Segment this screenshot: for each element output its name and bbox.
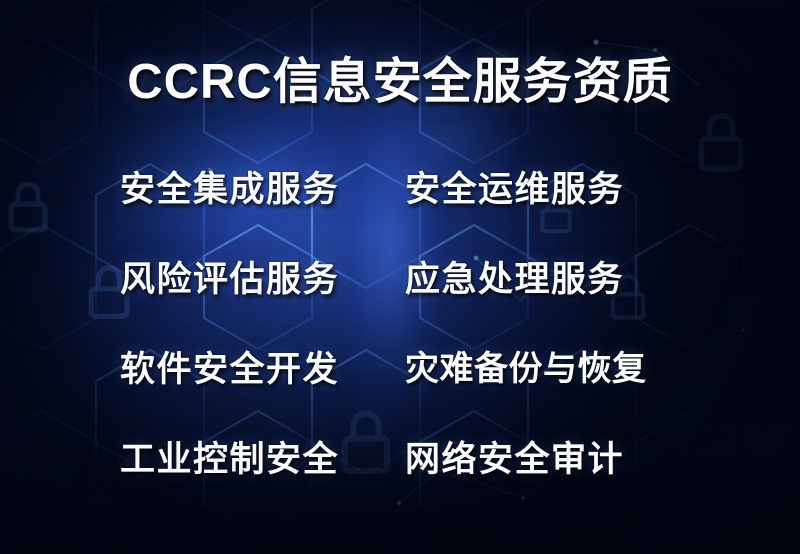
service-list: 安全集成服务 安全运维服务 风险评估服务 应急处理服务 软件安全开发 灾难备份与… xyxy=(120,172,695,532)
service-item: 安全运维服务 xyxy=(405,172,695,207)
service-item: 应急处理服务 xyxy=(405,262,695,297)
service-item: 灾难备份与恢复 xyxy=(405,352,695,386)
poster-image: CCRC信息安全服务资质 安全集成服务 安全运维服务 风险评估服务 应急处理服务… xyxy=(0,0,800,554)
service-item: 网络安全审计 xyxy=(405,442,695,477)
poster-content: CCRC信息安全服务资质 安全集成服务 安全运维服务 风险评估服务 应急处理服务… xyxy=(0,0,800,554)
service-item: 安全集成服务 xyxy=(120,172,405,207)
service-item: 风险评估服务 xyxy=(120,262,405,297)
page-title: CCRC信息安全服务资质 xyxy=(0,58,800,107)
service-item: 软件安全开发 xyxy=(120,352,405,387)
service-item: 工业控制安全 xyxy=(120,442,405,477)
